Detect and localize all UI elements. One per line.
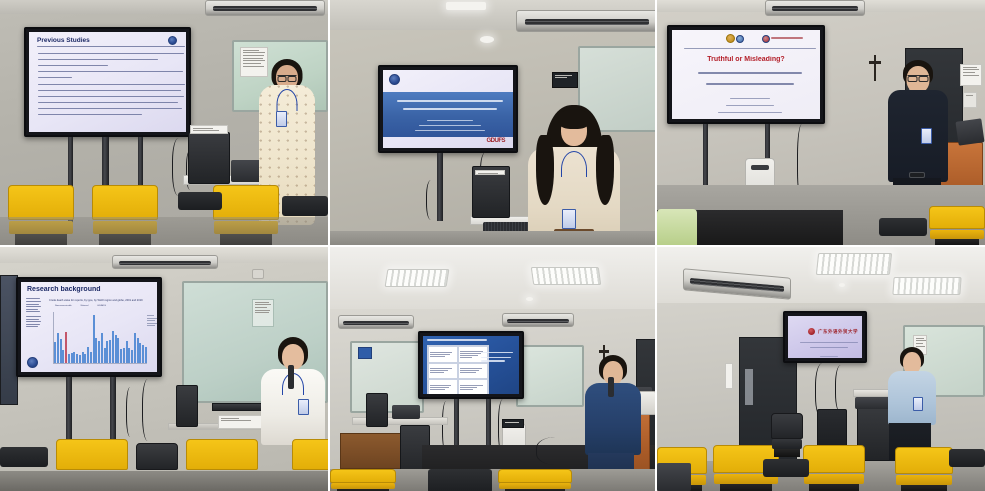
collage-panel-2[interactable]: GDUFS A Study of Formant Spectral Compar… [328, 0, 657, 245]
air-conditioner [205, 0, 325, 16]
scene-classroom-4: Research background Crude death value fo… [0, 247, 328, 491]
ceiling-light-panel [385, 269, 450, 287]
wall-notice [252, 299, 274, 327]
air-conditioner [338, 315, 414, 329]
slide-subtitle-line-2 [706, 83, 794, 85]
classroom-chair [895, 447, 953, 491]
air-conditioner [502, 313, 574, 327]
slide-information-flow: Theory of the Structure of Information F… [423, 336, 519, 394]
chair-tablet-arm [949, 449, 985, 467]
microphone[interactable] [608, 377, 614, 397]
university-seal-icon [168, 36, 177, 45]
slide-body-line [38, 96, 184, 97]
collage-panel-3[interactable]: Truthful or Misleading? Transitivity Mat… [657, 0, 985, 245]
table-cell [428, 379, 458, 394]
slide-title-formant-study: GDUFS A Study of Formant Spectral Compar… [383, 70, 513, 148]
slide-footer-line [820, 356, 838, 357]
table-cell [458, 379, 488, 394]
ceiling-light-panel [531, 267, 602, 285]
tv-screen: Theory of the Structure of Information F… [423, 336, 519, 394]
slide-subtitle-line [810, 347, 848, 348]
clicker[interactable] [909, 172, 925, 178]
slide-body-line [38, 71, 183, 72]
classroom-chair [929, 206, 985, 245]
slide-data-table [427, 345, 489, 394]
classroom-chair-dark [771, 413, 803, 457]
tv-screen: 广东外语外贸大学 A Corpus-based Study of Metapho… [788, 316, 862, 358]
water-bottle [657, 209, 697, 245]
tv-display-3[interactable]: Truthful or Misleading? Transitivity Mat… [667, 25, 825, 124]
scene-classroom-1: Previous Studies A [0, 0, 328, 245]
slide-advisor-line [419, 125, 481, 126]
conference-logo-icon [726, 34, 735, 43]
chair-tablet-arm [282, 196, 328, 216]
slide-title-line [427, 339, 487, 341]
slide-title: Research background [27, 286, 101, 293]
tv-display-5[interactable]: Theory of the Structure of Information F… [418, 331, 524, 399]
ceiling-downlight [526, 297, 533, 301]
tv-screen: Truthful or Misleading? Transitivity Mat… [672, 30, 820, 119]
mic-cable [536, 437, 584, 465]
whiteboard-right [516, 345, 584, 407]
chair-tablet-arm [0, 447, 48, 467]
floor [0, 471, 328, 491]
university-crest-icon [808, 328, 815, 335]
institution-name: 广东外语外贸大学 [818, 329, 858, 335]
laptop[interactable] [657, 463, 691, 491]
tv-screen: GDUFS A Study of Formant Spectral Compar… [383, 70, 513, 148]
slide-truthful-or-misleading: Truthful or Misleading? Transitivity Mat… [672, 30, 820, 119]
microphone[interactable] [288, 365, 294, 389]
slide-author-line [427, 120, 473, 121]
tv-display-6[interactable]: 广东外语外贸大学 A Corpus-based Study of Metapho… [783, 311, 867, 363]
slide-body-line [38, 59, 158, 60]
slide-gdufs-title: 广东外语外贸大学 A Corpus-based Study of Metapho… [788, 316, 862, 358]
slide-previous-studies: Previous Studies A [29, 32, 186, 132]
scene-classroom-2: GDUFS A Study of Formant Spectral Compar… [330, 0, 655, 245]
wall-sticker [358, 347, 372, 359]
slide-subtitle-line-1 [698, 72, 802, 74]
cable [835, 365, 849, 413]
slide-sidebar-notes [26, 298, 42, 327]
collage-panel-6[interactable]: 广东外语外贸大学 A Corpus-based Study of Metapho… [657, 245, 985, 491]
classroom-chair [498, 469, 572, 491]
floor [0, 217, 328, 245]
collage-panel-1[interactable]: Previous Studies A [0, 0, 328, 245]
equipment-sign [502, 419, 524, 428]
ceiling-downlight [480, 36, 494, 43]
gdufs-logo: GDUFS [487, 138, 506, 144]
tv-display-2[interactable]: GDUFS A Study of Formant Spectral Compar… [378, 65, 518, 153]
classroom-chair [330, 469, 396, 491]
wall-diagram [960, 64, 982, 86]
cable [126, 387, 136, 437]
slide-title: Previous Studies [37, 37, 90, 44]
ceiling-light-panel [816, 253, 892, 275]
photo-collage: Previous Studies A [0, 0, 985, 491]
ceiling [330, 247, 655, 309]
chart-bar [145, 347, 147, 363]
ceiling-light-panel [892, 277, 961, 295]
pc-tower [366, 393, 388, 427]
slide-side-note [481, 352, 515, 362]
crucifix-icon [867, 55, 883, 81]
wall-switch-panel[interactable] [963, 92, 977, 108]
wall-sign [552, 72, 578, 88]
wall-strip [725, 363, 733, 389]
slide-body-line [38, 114, 142, 115]
pc-tower [176, 385, 198, 427]
tv-display-4[interactable]: Research background Crude death value fo… [16, 277, 162, 377]
university-logo-icon [762, 35, 770, 43]
slide-supervisor-line [726, 105, 774, 106]
bar-chart: Crude death value for reports, by type, … [45, 299, 157, 371]
collage-panel-4[interactable]: Research background Crude death value fo… [0, 245, 328, 491]
chair-tablet-arm [178, 192, 222, 210]
slide-title-line-2 [403, 108, 497, 110]
equipment-label [190, 125, 228, 134]
speaker [252, 269, 264, 279]
scene-classroom-6: 广东外语外贸大学 A Corpus-based Study of Metapho… [657, 247, 985, 491]
floor [330, 231, 655, 245]
table-cell [458, 363, 488, 380]
chart-legend: Noncommunicable Maternal HIV/AIDS [55, 305, 106, 307]
cable [142, 379, 156, 441]
slide-title-line-1 [397, 100, 503, 102]
pc-label [475, 170, 505, 175]
chart-side-labels [147, 315, 157, 328]
tv-screen: Research background Crude death value fo… [21, 282, 157, 372]
chair-tablet-arm [879, 218, 927, 236]
monitor[interactable] [392, 405, 420, 419]
classroom-chair [803, 445, 865, 491]
ceiling-light [446, 2, 486, 10]
slide-body-line [38, 108, 182, 109]
slide-date-line [718, 112, 782, 113]
laptop[interactable] [955, 118, 984, 145]
ceiling-downlight [839, 283, 845, 287]
university-seal-icon [389, 74, 400, 85]
slide-body-line [38, 90, 181, 91]
slide-body-line [38, 102, 178, 103]
slide-body-line [38, 77, 72, 78]
legend-item: Maternal [81, 305, 89, 307]
scene-classroom-3: Truthful or Misleading? Transitivity Mat… [657, 0, 985, 245]
scene-classroom-5: Theory of the Structure of Information F… [330, 247, 655, 491]
legend-item: Noncommunicable [55, 305, 72, 307]
cable [426, 180, 438, 220]
tv-stand-pole [437, 153, 443, 221]
slide-body-line [38, 53, 184, 54]
university-seal-icon [27, 357, 38, 368]
tv-display-1[interactable]: Previous Studies A [24, 27, 191, 137]
air-conditioner [765, 0, 865, 16]
pc-tower [188, 132, 230, 184]
air-conditioner [112, 255, 218, 269]
chart-title: Crude death value for reports, by type, … [49, 299, 143, 302]
slide-title: Truthful or Misleading? [672, 56, 820, 63]
slide-title-line [800, 342, 858, 343]
collage-panel-5[interactable]: Theory of the Structure of Information F… [328, 245, 657, 491]
slide-presenter-line [730, 98, 770, 99]
slide-body-line [38, 84, 185, 85]
chart-plot-area [53, 312, 147, 364]
presenter-4 [258, 337, 328, 447]
slide-conference-line [684, 48, 816, 49]
conference-logo-icon-2 [736, 35, 744, 43]
slide-body-line [38, 65, 108, 66]
air-conditioner [516, 10, 657, 32]
presenter-2 [526, 105, 622, 245]
chair-tablet-arm [428, 469, 492, 491]
chair-tablet-arm [763, 459, 809, 477]
legend-item: HIV/AIDS [97, 305, 106, 307]
slide-research-background: Research background Crude death value fo… [21, 282, 157, 372]
tv-screen: Previous Studies A [29, 32, 186, 132]
name-placard [218, 415, 262, 429]
table-cell [428, 363, 458, 380]
door-glass [745, 369, 753, 405]
table-cell [428, 346, 458, 363]
slide-affiliation-line [415, 130, 485, 131]
